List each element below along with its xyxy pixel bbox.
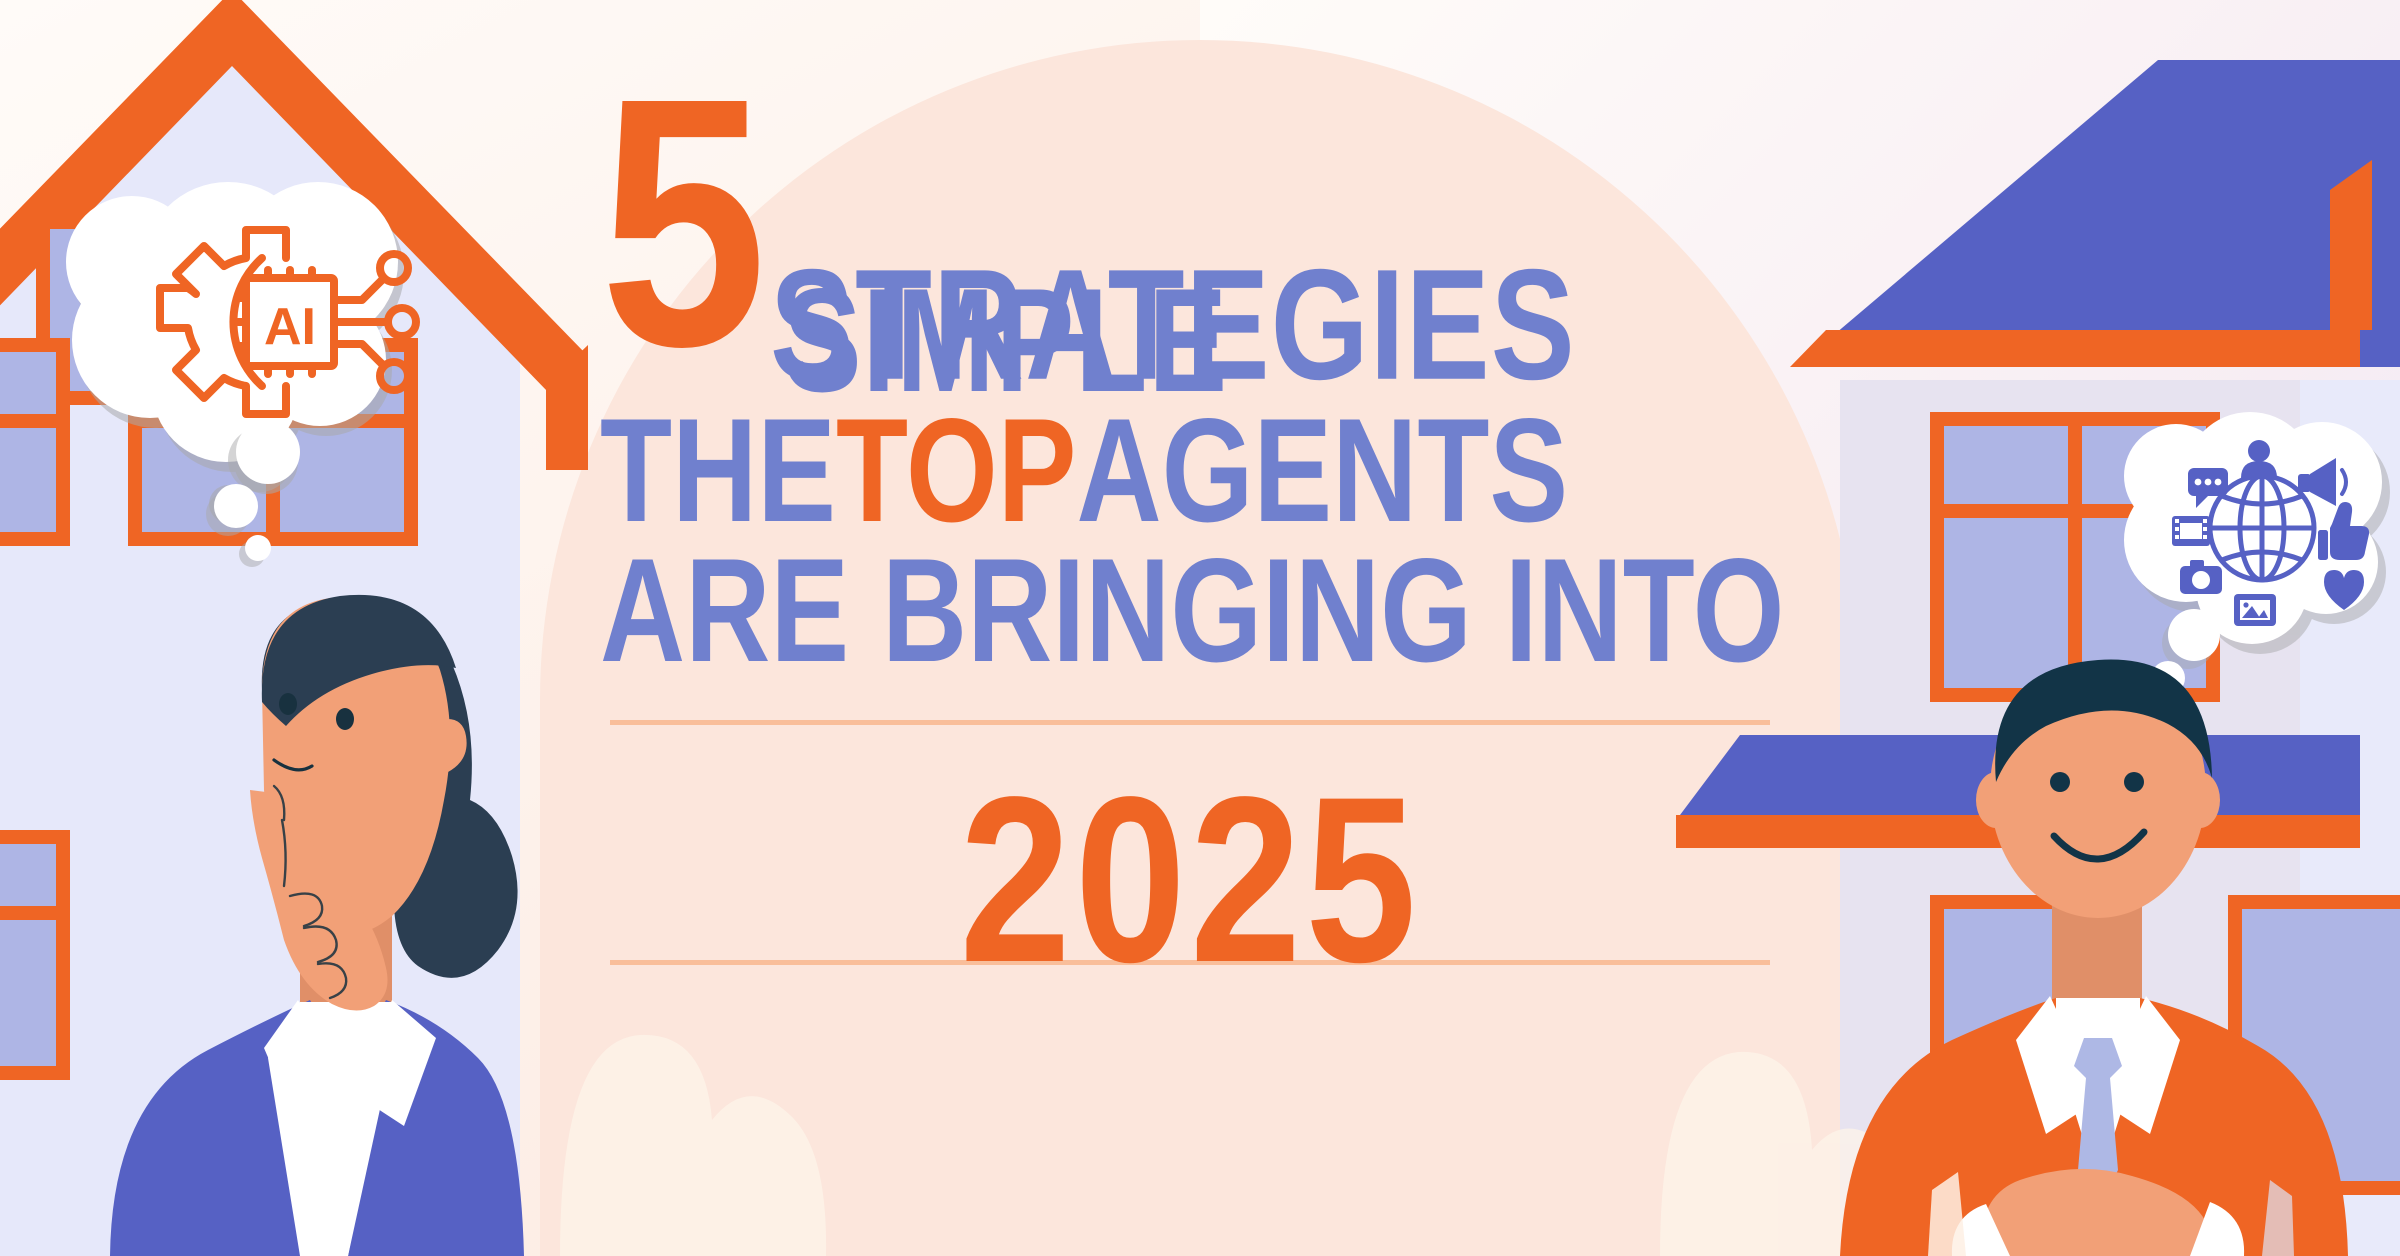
left-house-window-mid-left	[0, 338, 70, 546]
banner-illustration: AI	[0, 0, 2400, 1256]
agent-right-eye-left	[2050, 772, 2070, 792]
film-strip-icon	[2172, 516, 2210, 546]
right-house-roof-trim	[1790, 330, 2360, 367]
left-house-window-lower-left	[0, 830, 70, 1080]
right-house-roof-trim-right	[2330, 160, 2372, 330]
banner-canvas: AI	[0, 0, 2400, 1256]
agent-right-ear-right	[2180, 772, 2220, 828]
ai-icon-label: AI	[264, 298, 316, 356]
photo-icon	[2234, 594, 2276, 626]
agent-left-eye-right	[336, 708, 354, 730]
agent-left-eye-left	[279, 693, 297, 715]
agent-right-eye-right	[2124, 772, 2144, 792]
